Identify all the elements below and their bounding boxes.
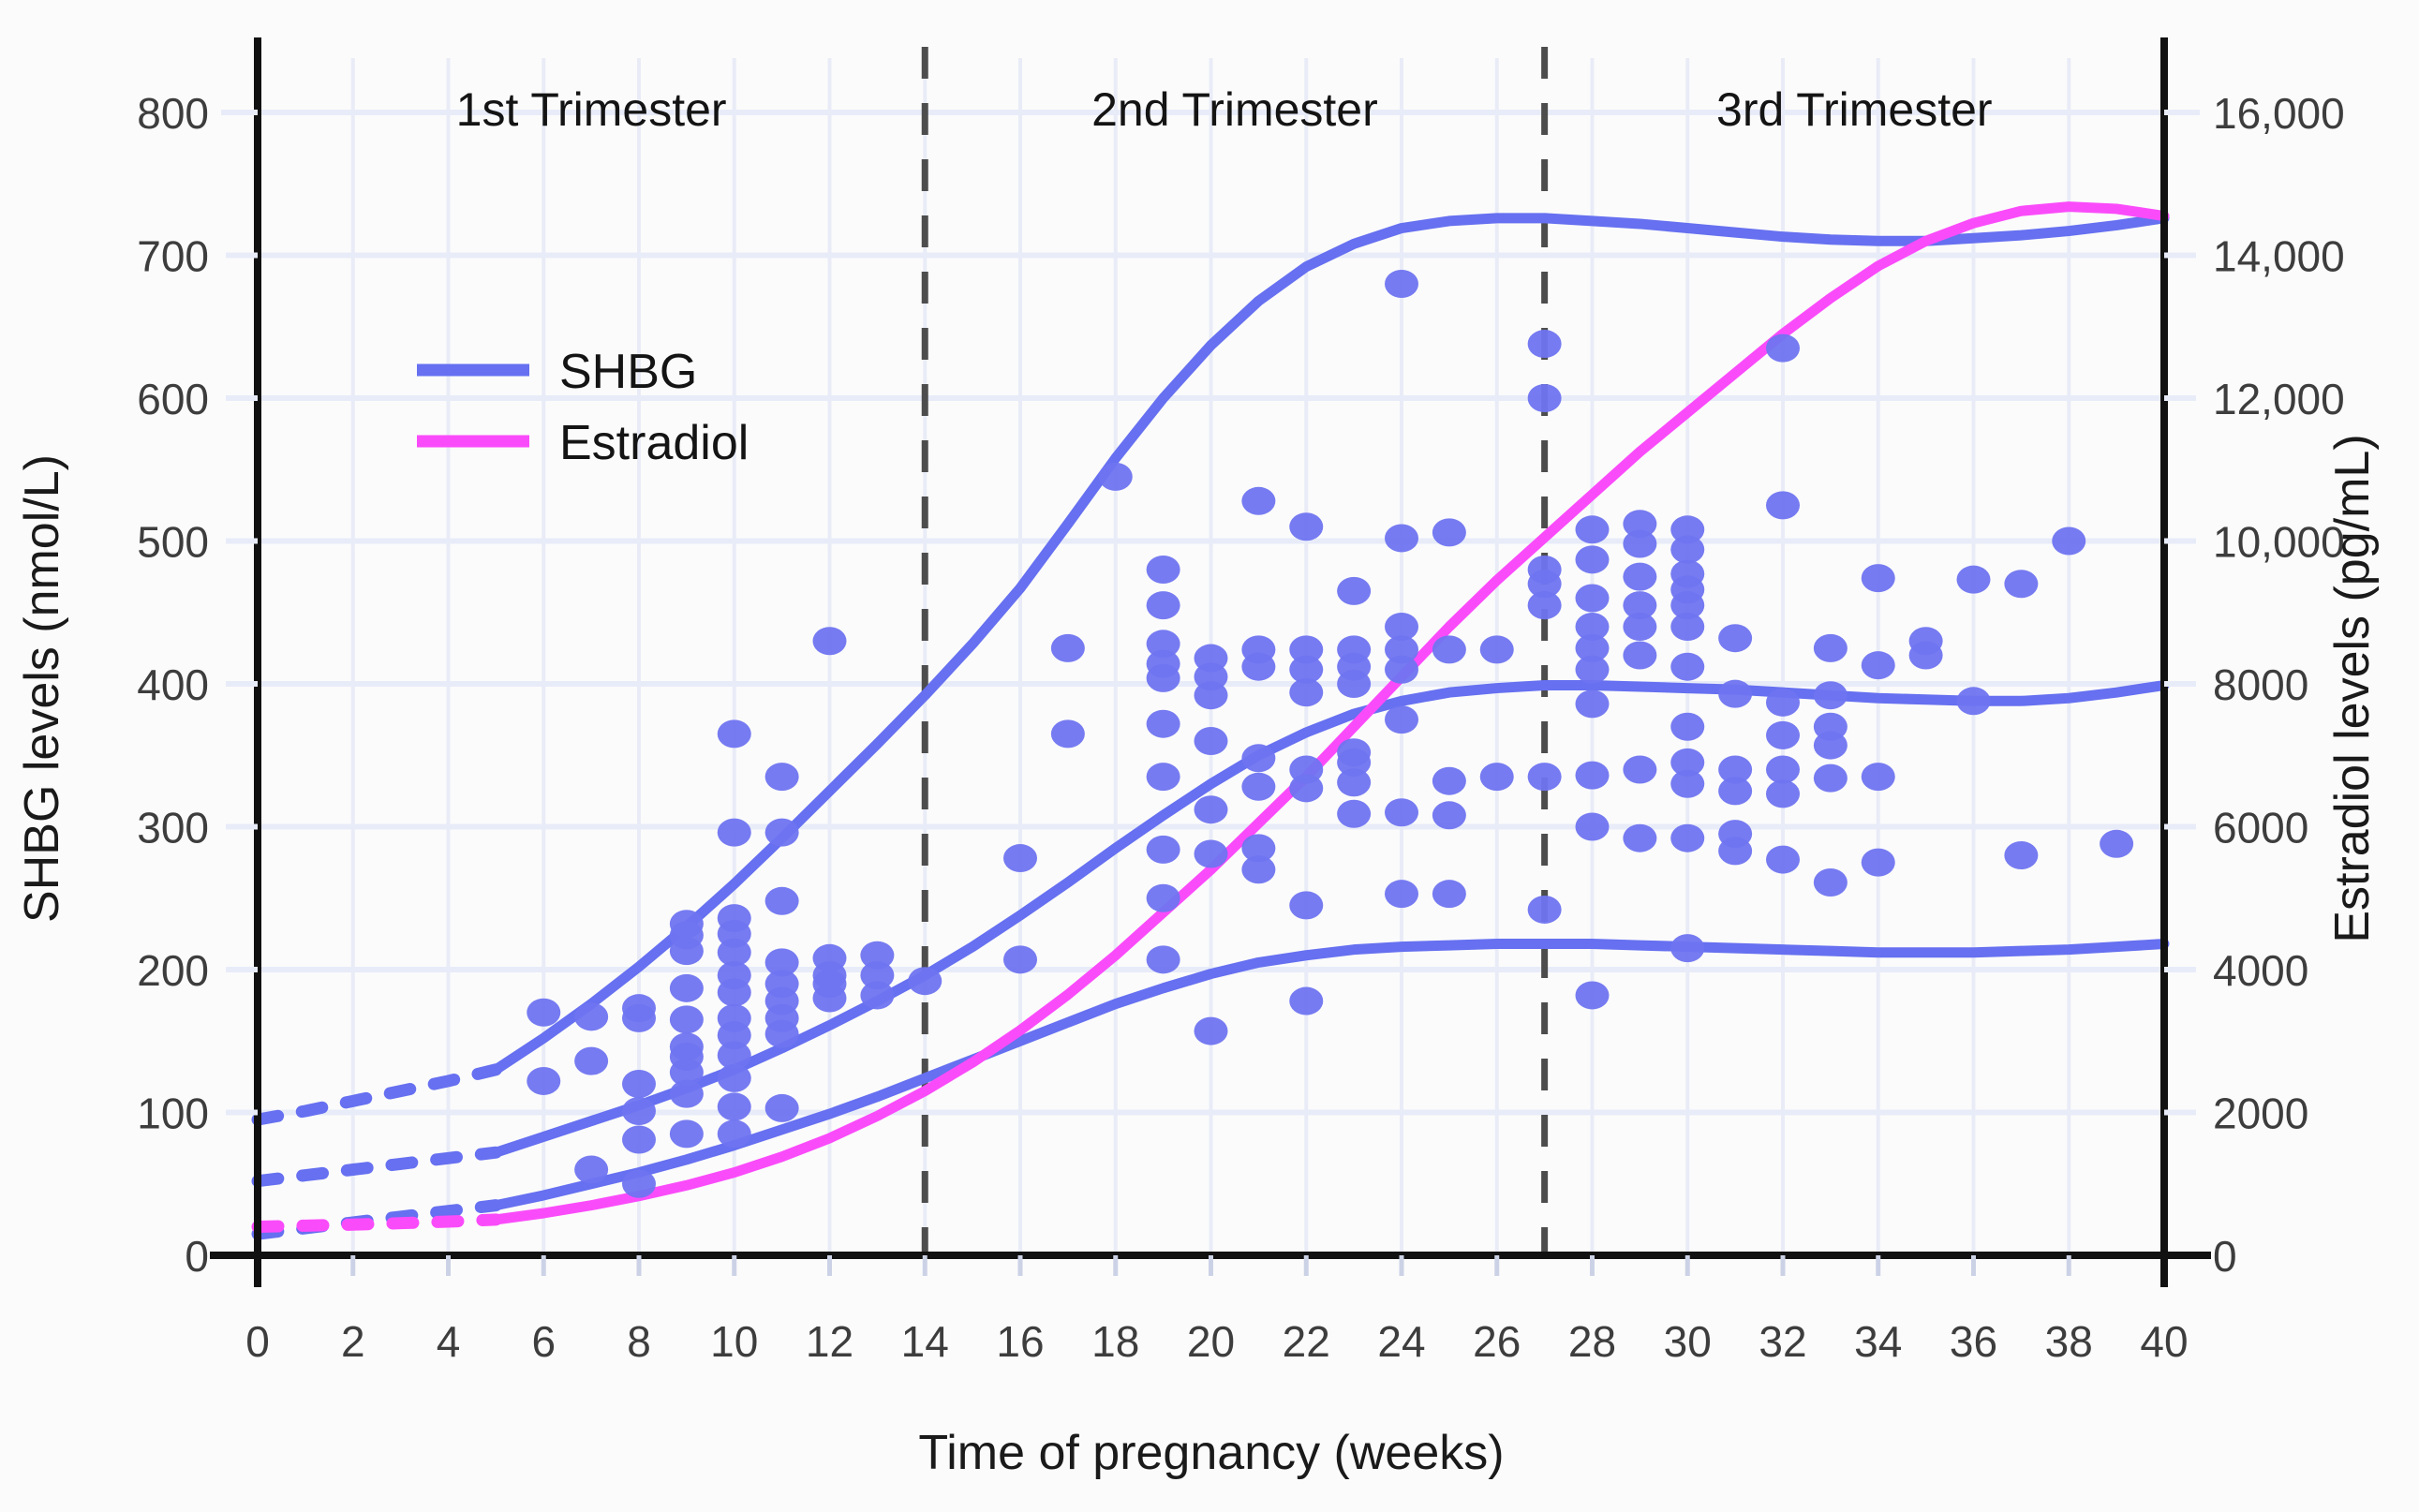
scatter-point xyxy=(718,978,751,1006)
scatter-point xyxy=(1147,591,1180,619)
scatter-point xyxy=(1814,868,1848,897)
y2-tick-label: 6000 xyxy=(2213,804,2308,852)
scatter-point xyxy=(1289,512,1323,541)
scatter-point xyxy=(622,1070,656,1098)
y-axis-title: SHBG levels (nmol/L) xyxy=(15,454,69,923)
scatter-point xyxy=(1385,798,1418,826)
x-tick-label: 2 xyxy=(341,1317,365,1366)
x-tick-label: 6 xyxy=(531,1317,556,1366)
scatter-point xyxy=(1385,880,1418,908)
x-tick-label: 34 xyxy=(1854,1317,1902,1366)
scatter-point xyxy=(860,981,894,1009)
scatter-point xyxy=(718,719,751,748)
scatter-point xyxy=(1480,763,1514,791)
scatter-point xyxy=(1814,764,1848,793)
y-tick-label: 200 xyxy=(137,946,209,995)
legend-label: Estradiol xyxy=(559,416,749,470)
y2-tick-label: 12,000 xyxy=(2213,375,2345,423)
scatter-point xyxy=(1385,270,1418,298)
scatter-point xyxy=(1814,732,1848,760)
scatter-point xyxy=(718,819,751,847)
scatter-point xyxy=(1957,687,1991,715)
scatter-point xyxy=(622,1097,656,1125)
x-tick-label: 22 xyxy=(1283,1317,1330,1366)
scatter-point xyxy=(1337,670,1371,698)
scatter-point xyxy=(1576,656,1610,684)
scatter-point xyxy=(1003,945,1037,973)
scatter-point xyxy=(1623,530,1656,558)
scatter-point xyxy=(1241,653,1275,681)
x-tick-label: 8 xyxy=(627,1317,651,1366)
scatter-point xyxy=(574,1002,608,1030)
scatter-point xyxy=(1195,839,1228,867)
scatter-point xyxy=(1147,664,1180,692)
scatter-point xyxy=(1670,934,1704,962)
y-tick-label: 500 xyxy=(137,518,209,567)
scatter-point xyxy=(1766,491,1800,519)
scatter-point xyxy=(1623,756,1656,784)
scatter-point xyxy=(1576,545,1610,573)
scatter-point xyxy=(1862,564,1895,592)
scatter-point xyxy=(1051,719,1085,748)
scatter-point xyxy=(1766,779,1800,808)
scatter-point xyxy=(2004,570,2038,598)
scatter-point xyxy=(1432,767,1466,795)
scatter-point xyxy=(2100,830,2133,858)
scatter-point xyxy=(670,974,704,1002)
y2-tick-label: 16,000 xyxy=(2213,89,2345,138)
scatter-point xyxy=(765,763,799,791)
scatter-point xyxy=(1528,763,1562,791)
x-tick-label: 16 xyxy=(996,1317,1044,1366)
chart-figure: 0246810121416182022242628303234363840 01… xyxy=(0,0,2419,1512)
scatter-point xyxy=(622,1125,656,1153)
scatter-point xyxy=(1195,681,1228,709)
scatter-point xyxy=(622,1170,656,1198)
x-axis-title: Time of pregnancy (weeks) xyxy=(918,1426,1504,1480)
scatter-point xyxy=(813,985,847,1013)
scatter-point xyxy=(670,1005,704,1033)
scatter-point xyxy=(1195,795,1228,823)
scatter-point xyxy=(1862,849,1895,877)
scatter-point xyxy=(1385,656,1418,684)
scatter-point xyxy=(1909,642,1943,670)
y-tick-label: 300 xyxy=(137,804,209,852)
scatter-point xyxy=(1099,463,1133,491)
scatter-point xyxy=(1147,556,1180,584)
scatter-point xyxy=(765,1020,799,1048)
scatter-point xyxy=(1623,642,1656,670)
scatter-point xyxy=(1576,813,1610,841)
scatter-point xyxy=(1766,334,1800,363)
scatter-point xyxy=(574,1047,608,1075)
scatter-point xyxy=(670,1119,704,1148)
x-tick-label: 24 xyxy=(1377,1317,1425,1366)
x-tick-label: 36 xyxy=(1950,1317,1997,1366)
scatter-point xyxy=(1814,634,1848,662)
scatter-point xyxy=(574,1156,608,1184)
y2-tick-label: 14,000 xyxy=(2213,232,2345,281)
scatter-point xyxy=(670,1080,704,1108)
scatter-point xyxy=(908,967,942,995)
y-tick-label: 600 xyxy=(137,375,209,423)
scatter-point xyxy=(718,1064,751,1092)
scatter-point xyxy=(765,1094,799,1122)
scatter-point xyxy=(2004,841,2038,869)
trimester-labels: 1st Trimester2nd Trimester3rd Trimester xyxy=(456,83,1993,136)
x-tick-label: 32 xyxy=(1759,1317,1806,1366)
y-tick-label: 0 xyxy=(185,1232,209,1281)
scatter-point xyxy=(1003,844,1037,872)
y2-tick-label: 4000 xyxy=(2213,946,2308,995)
scatter-point xyxy=(1862,763,1895,791)
scatter-point xyxy=(1766,689,1800,717)
trimester-label: 2nd Trimester xyxy=(1091,83,1378,136)
scatter-point xyxy=(622,1004,656,1032)
scatter-point xyxy=(1670,713,1704,741)
scatter-point xyxy=(765,887,799,915)
scatter-point xyxy=(1623,613,1656,641)
scatter-point xyxy=(1289,774,1323,802)
x-tick-label: 14 xyxy=(901,1317,949,1366)
scatter-point xyxy=(1576,689,1610,718)
scatter-point xyxy=(1385,524,1418,552)
scatter-point xyxy=(1432,518,1466,546)
scatter-point xyxy=(1957,566,1991,594)
scatter-point xyxy=(2052,527,2085,556)
x-tick-label: 28 xyxy=(1568,1317,1616,1366)
scatter-point xyxy=(527,1067,560,1095)
scatter-point xyxy=(1814,681,1848,709)
x-tick-label: 10 xyxy=(710,1317,758,1366)
scatter-point xyxy=(1528,896,1562,924)
x-tick-label: 0 xyxy=(245,1317,270,1366)
scatter-point xyxy=(1528,330,1562,358)
scatter-point xyxy=(1718,680,1752,708)
y-tick-label: 100 xyxy=(137,1090,209,1138)
scatter-point xyxy=(1147,763,1180,791)
scatter-point xyxy=(813,627,847,655)
y-tick-label: 400 xyxy=(137,660,209,709)
scatter-point xyxy=(1670,613,1704,641)
scatter-point xyxy=(1623,824,1656,852)
scatter-point xyxy=(1528,384,1562,412)
scatter-point xyxy=(1576,515,1610,543)
scatter-point xyxy=(1289,987,1323,1015)
trimester-label: 1st Trimester xyxy=(456,83,727,136)
scatter-point xyxy=(1432,801,1466,829)
hormone-levels-scatter-chart: 0246810121416182022242628303234363840 01… xyxy=(0,0,2419,1512)
x-tick-label: 40 xyxy=(2140,1317,2188,1366)
scatter-point xyxy=(1670,824,1704,852)
trimester-label: 3rd Trimester xyxy=(1716,83,1993,136)
scatter-point xyxy=(1766,756,1800,784)
scatter-point xyxy=(1289,891,1323,919)
scatter-point xyxy=(1147,836,1180,864)
x-tick-label: 12 xyxy=(806,1317,853,1366)
y2-tick-label: 0 xyxy=(2213,1232,2237,1281)
scatter-point xyxy=(1718,837,1752,865)
scatter-point xyxy=(718,1092,751,1120)
scatter-point xyxy=(1147,945,1180,973)
scatter-point xyxy=(1528,591,1562,619)
scatter-point xyxy=(1241,744,1275,772)
scatter-point xyxy=(1385,705,1418,734)
y-tick-labels: 0100200300400500600700800 xyxy=(137,89,209,1281)
scatter-point xyxy=(1623,563,1656,591)
x-tick-label: 38 xyxy=(2045,1317,2093,1366)
scatter-point xyxy=(1718,777,1752,805)
x-tick-label: 18 xyxy=(1091,1317,1139,1366)
scatter-point xyxy=(1718,624,1752,652)
scatter-point xyxy=(1766,846,1800,874)
scatter-point xyxy=(1241,487,1275,515)
scatter-point xyxy=(1051,634,1085,662)
scatter-point xyxy=(1195,727,1228,755)
scatter-point xyxy=(1147,884,1180,912)
scatter-point xyxy=(1670,770,1704,798)
scatter-point xyxy=(1432,635,1466,663)
scatter-point xyxy=(1670,536,1704,564)
scatter-point xyxy=(1862,651,1895,679)
scatter-point xyxy=(1576,585,1610,613)
y-tick-label: 800 xyxy=(137,89,209,138)
scatter-point xyxy=(1241,773,1275,801)
y2-axis-title: Estradiol levels (pg/mL) xyxy=(2325,434,2380,942)
y2-tick-label: 2000 xyxy=(2213,1090,2308,1138)
scatter-point xyxy=(765,819,799,847)
scatter-point xyxy=(718,1119,751,1148)
scatter-point xyxy=(1480,635,1514,663)
scatter-point xyxy=(1337,768,1371,796)
x-tick-labels: 0246810121416182022242628303234363840 xyxy=(245,1317,2188,1366)
scatter-point xyxy=(1576,762,1610,790)
y-tick-label: 700 xyxy=(137,232,209,281)
scatter-point xyxy=(1337,800,1371,828)
x-tick-label: 4 xyxy=(437,1317,461,1366)
scatter-point xyxy=(1432,880,1466,908)
x-tick-label: 20 xyxy=(1187,1317,1235,1366)
scatter-point xyxy=(1337,577,1371,605)
x-tick-label: 30 xyxy=(1664,1317,1712,1366)
legend-label: SHBG xyxy=(559,345,697,399)
scatter-point xyxy=(527,999,560,1027)
scatter-point xyxy=(1670,653,1704,681)
scatter-point xyxy=(1289,678,1323,706)
scatter-point xyxy=(1195,1017,1228,1045)
scatter-point xyxy=(1576,981,1610,1009)
x-tick-label: 26 xyxy=(1473,1317,1521,1366)
y2-tick-label: 8000 xyxy=(2213,660,2308,709)
scatter-point xyxy=(670,937,704,965)
scatter-point xyxy=(1147,710,1180,738)
scatter-point xyxy=(1241,855,1275,883)
scatter-point xyxy=(1766,721,1800,749)
